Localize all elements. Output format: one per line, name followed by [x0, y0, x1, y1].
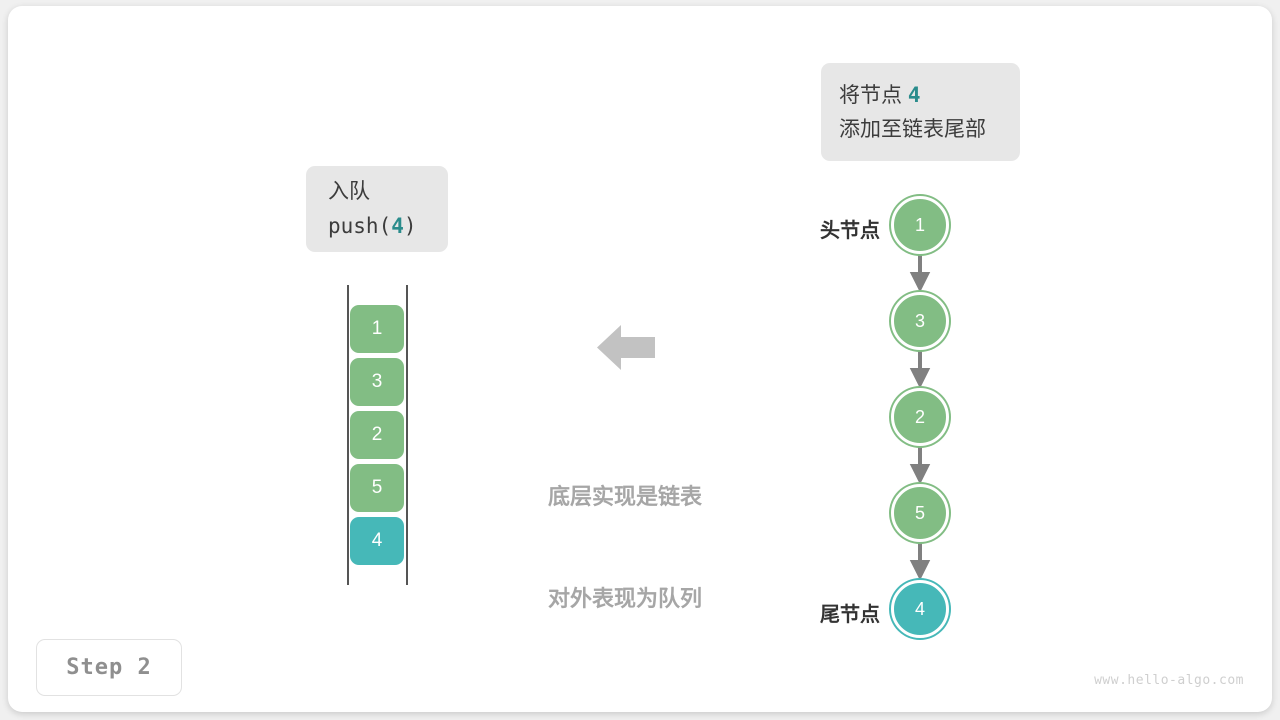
linked-list-node: 2	[891, 388, 949, 446]
center-note-line1: 底层实现是链表	[505, 480, 745, 514]
watermark: www.hello-algo.com	[1094, 673, 1244, 688]
action-caption-prefix: 将节点	[839, 84, 908, 107]
node-value: 2	[915, 407, 925, 428]
tail-node-label-text: 尾节点	[820, 604, 880, 626]
queue-item: 2	[350, 411, 404, 459]
queue-item: 1	[350, 305, 404, 353]
node-value: 5	[915, 503, 925, 524]
node-value: 4	[915, 599, 925, 620]
center-note-line2: 对外表现为队列	[505, 582, 745, 616]
action-caption-line2: 添加至链表尾部	[839, 113, 1020, 147]
queue-item-value: 3	[372, 371, 383, 393]
operation-caption-code: push(4)	[328, 209, 448, 243]
queue-rail-left	[347, 285, 349, 585]
queue-item-value: 4	[372, 530, 383, 552]
linked-list-node-highlighted: 4	[891, 580, 949, 638]
push-prefix: push(	[328, 214, 391, 238]
action-caption-line1: 将节点 4	[839, 78, 1020, 113]
operation-caption-box: 入队 push(4)	[306, 166, 448, 252]
queue-item-value: 5	[372, 477, 383, 499]
push-value: 4	[391, 214, 404, 238]
queue-item-value: 1	[372, 318, 383, 340]
head-node-label-text: 头节点	[820, 220, 880, 242]
left-block-arrow-icon	[595, 318, 659, 378]
linked-list-node: 3	[891, 292, 949, 350]
tail-node-label: 尾节点	[740, 598, 880, 627]
push-suffix: )	[404, 214, 417, 238]
queue-item: 3	[350, 358, 404, 406]
head-node-label: 头节点	[740, 214, 880, 243]
queue-item: 5	[350, 464, 404, 512]
action-caption-value: 4	[908, 83, 921, 107]
linked-list-node: 1	[891, 196, 949, 254]
queue-rail-right	[406, 285, 408, 585]
center-note: 底层实现是链表 对外表现为队列	[505, 412, 745, 684]
queue-item-value: 2	[372, 424, 383, 446]
action-caption-box: 将节点 4 添加至链表尾部	[821, 63, 1020, 161]
operation-caption-line1: 入队	[328, 175, 448, 209]
step-badge: Step 2	[36, 639, 182, 696]
queue-item-highlighted: 4	[350, 517, 404, 565]
diagram-canvas: 入队 push(4) 将节点 4 添加至链表尾部 1 3 2 5 4 底层实现是…	[0, 0, 1280, 720]
linked-list-node: 5	[891, 484, 949, 542]
node-value: 3	[915, 311, 925, 332]
node-value: 1	[915, 215, 925, 236]
